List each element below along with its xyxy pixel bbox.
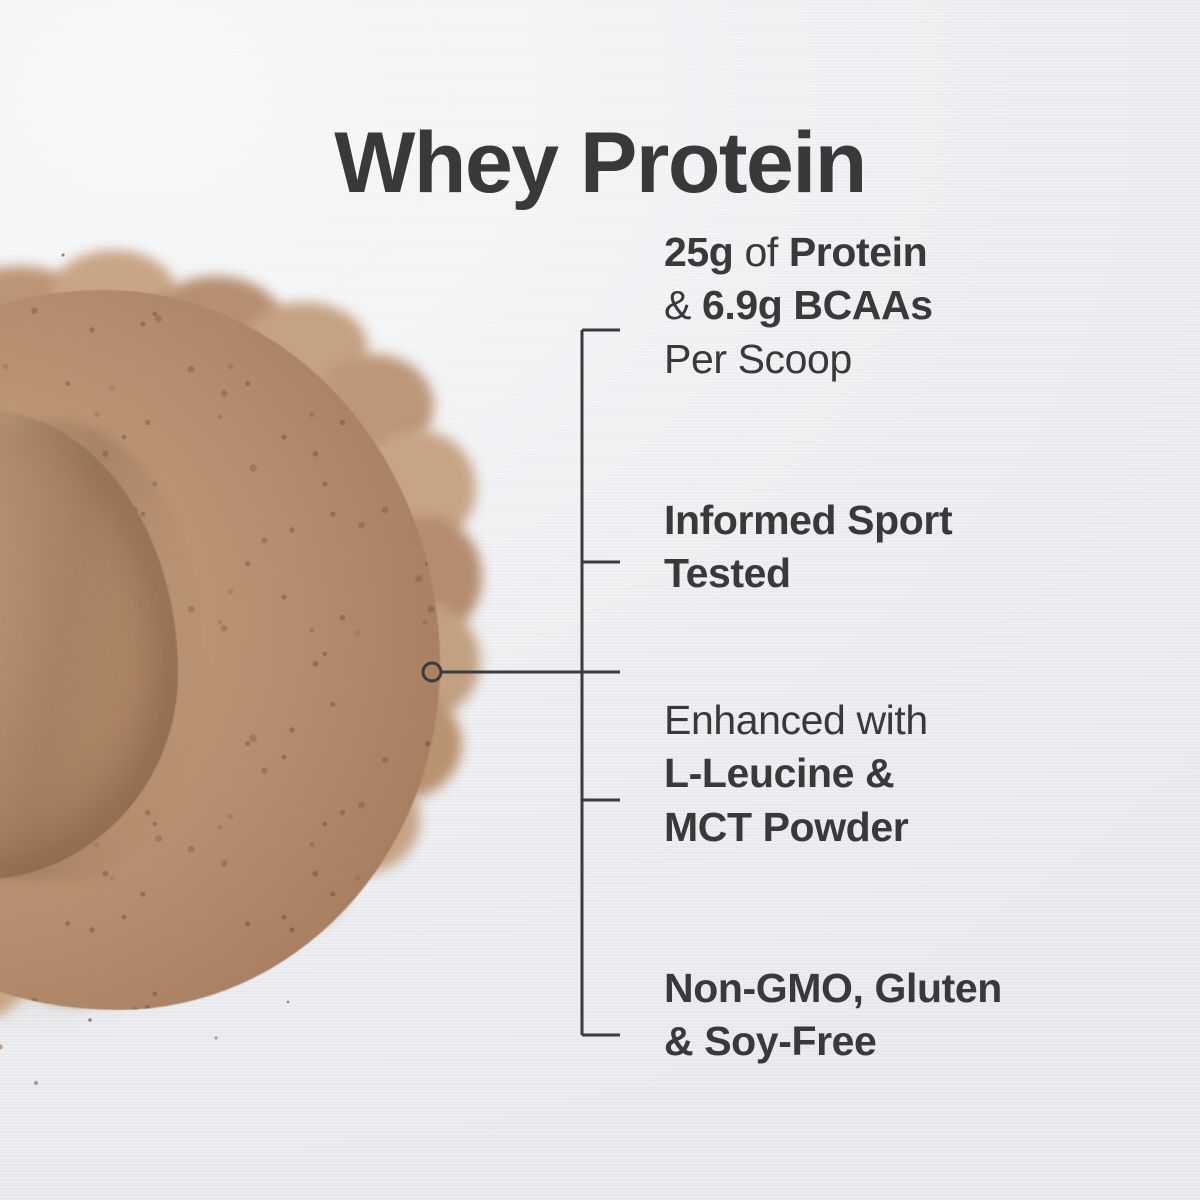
feature-span: 25g — [664, 229, 733, 275]
feature-line: 25g of Protein — [664, 226, 1164, 279]
feature-span: & — [664, 282, 702, 328]
feature-line: Informed Sport — [664, 494, 1164, 547]
feature-span: Informed Sport — [664, 497, 952, 543]
feature-span: Tested — [664, 550, 791, 596]
feature-span: Protein — [789, 229, 927, 275]
feature-span: Non-GMO, Gluten — [664, 965, 1002, 1011]
feature-line: Enhanced with — [664, 694, 1164, 747]
feature-span: Enhanced with — [664, 697, 928, 743]
feature-line: Non-GMO, Gluten — [664, 962, 1164, 1015]
feature-line: L-Leucine & — [664, 747, 1164, 800]
feature-span: Per Scoop — [664, 336, 852, 382]
feature-non-gmo: Non-GMO, Gluten & Soy-Free — [664, 962, 1164, 1069]
feature-line: Tested — [664, 547, 1164, 600]
feature-line: Per Scoop — [664, 333, 1164, 386]
feature-line: & Soy-Free — [664, 1015, 1164, 1068]
feature-line: MCT Powder — [664, 801, 1164, 854]
feature-span: MCT Powder — [664, 804, 908, 850]
feature-span: & Soy-Free — [664, 1018, 876, 1064]
feature-span: L-Leucine & — [664, 750, 894, 796]
feature-informed-sport: Informed Sport Tested — [664, 494, 1164, 601]
callout-marker-icon — [423, 663, 441, 681]
feature-span: of — [733, 229, 788, 275]
feature-span: 6.9g BCAAs — [702, 282, 933, 328]
feature-protein-bcaa: 25g of Protein & 6.9g BCAAs Per Scoop — [664, 226, 1164, 386]
feature-line: & 6.9g BCAAs — [664, 279, 1164, 332]
feature-leucine-mct: Enhanced with L-Leucine & MCT Powder — [664, 694, 1164, 854]
infographic-canvas: Whey Protein 25g of Protein & 6.9g BCAAs — [0, 0, 1200, 1200]
